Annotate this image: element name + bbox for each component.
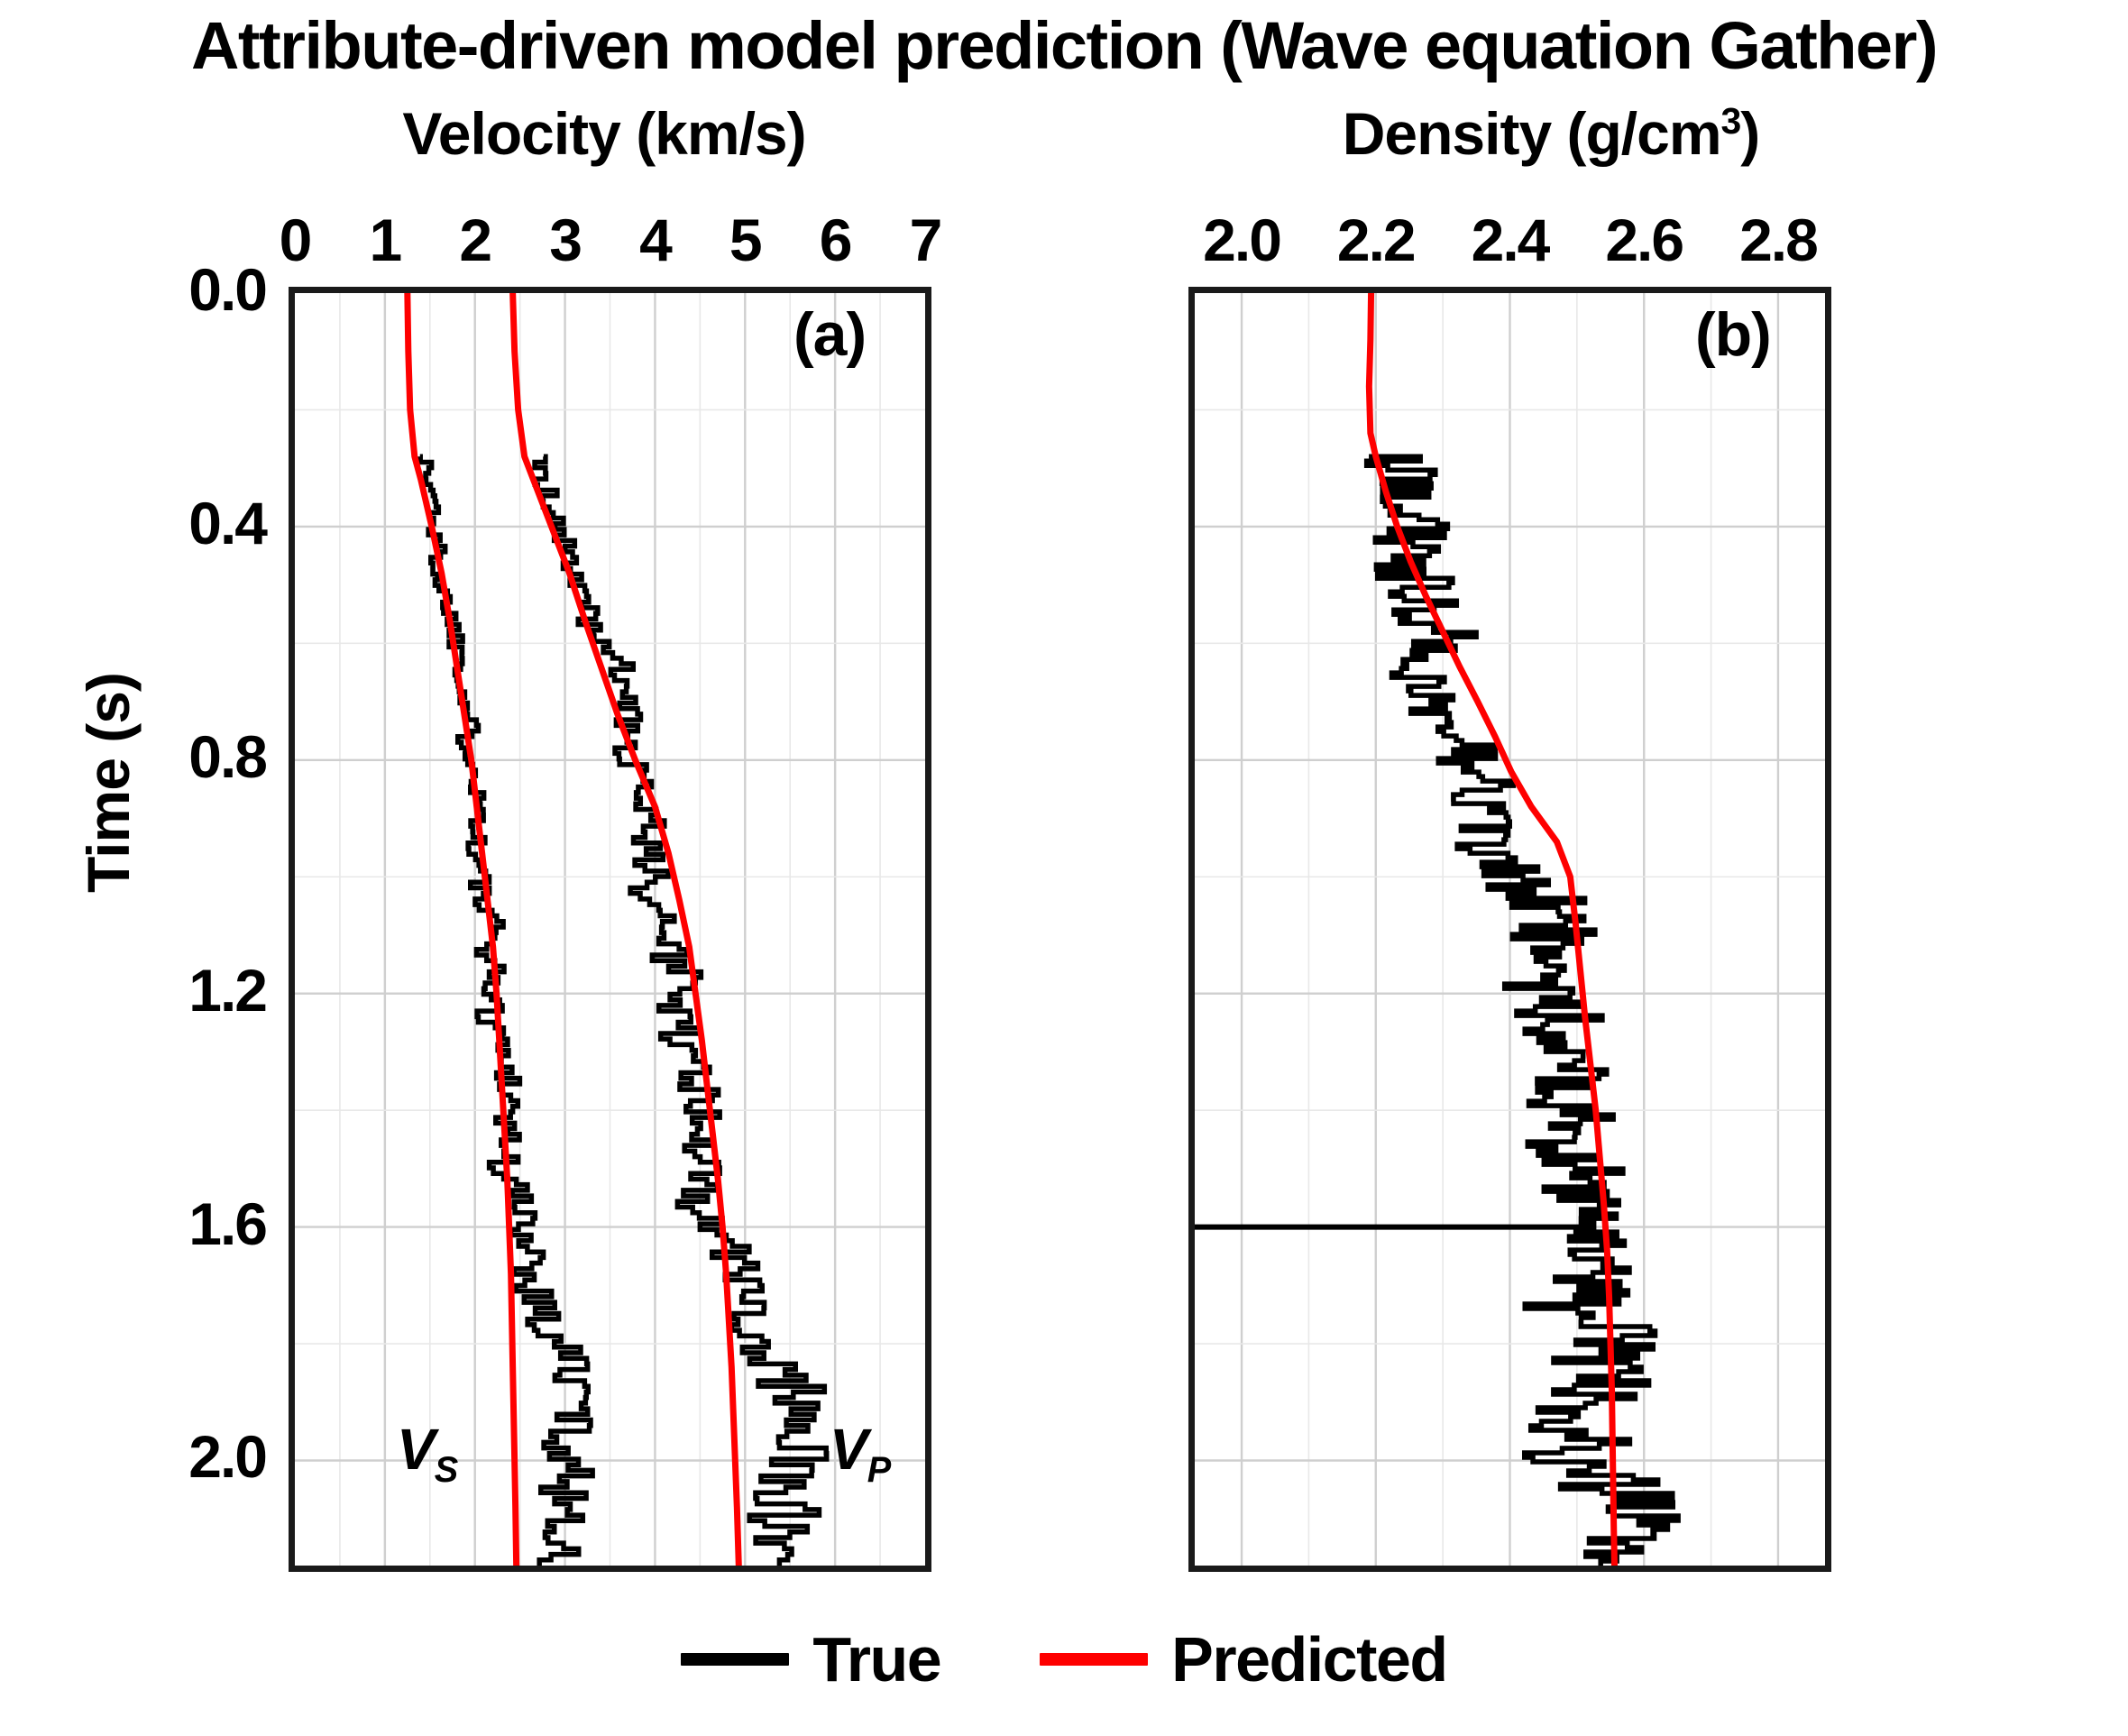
- vs-annotation-subscript: S: [435, 1450, 457, 1490]
- gridlines: [295, 293, 925, 1566]
- y-tick-label-group: 0.00.40.81.21.62.0: [41, 0, 266, 1736]
- legend-label-predicted: Predicted: [1171, 1623, 1447, 1695]
- legend-item-predicted[interactable]: Predicted: [1040, 1623, 1447, 1695]
- panel-b-svg: [1195, 293, 1825, 1566]
- panel-a-x-tick-label-2: 2: [459, 206, 491, 274]
- panel-a-x-tick-label-3: 3: [549, 206, 581, 274]
- vp-annotation-base: V: [830, 1417, 867, 1482]
- y-tick-label-0.0: 0.0: [41, 255, 266, 324]
- panel-b-axis-title-prefix: Density (g/cm3): [1343, 100, 1760, 167]
- figure-root: Attribute-driven model prediction (Wave …: [0, 0, 2128, 1736]
- panel-a-x-tick-label-5: 5: [729, 206, 761, 274]
- legend-swatch-predicted-icon: [1040, 1653, 1148, 1666]
- panel-a-x-tick-label-4: 4: [639, 206, 671, 274]
- panel-b-x-tick-label-2.4: 2.4: [1472, 206, 1549, 274]
- panel-a-x-tick-label-7: 7: [910, 206, 941, 274]
- panel-a-x-tick-label-1: 1: [369, 206, 400, 274]
- panel-a-x-tick-label-6: 6: [820, 206, 851, 274]
- panel-b-x-tick-label-2.8: 2.8: [1739, 206, 1817, 274]
- vs-true-curve: [420, 456, 592, 1566]
- figure-legend: TruePredicted: [0, 1623, 2128, 1695]
- legend-swatch-true-icon: [681, 1653, 789, 1666]
- y-tick-label-0.4: 0.4: [41, 489, 266, 557]
- figure-title: Attribute-driven model prediction (Wave …: [0, 7, 2128, 84]
- panel-a-letter: (a): [793, 299, 866, 370]
- panel-b-x-tick-label-2.6: 2.6: [1605, 206, 1683, 274]
- panel-b-x-tick-label-2.0: 2.0: [1203, 206, 1280, 274]
- vp-predicted-curve: [513, 293, 739, 1566]
- panel-a-x-tick-label-0: 0: [280, 206, 311, 274]
- panel-b-plot-area: [1188, 287, 1831, 1572]
- y-tick-label-1.2: 1.2: [41, 956, 266, 1024]
- panel-b-axis-title: Density (g/cm3): [1055, 99, 2047, 168]
- panel-a-plot-area: [289, 287, 931, 1572]
- panel-a-axis-title-text: Velocity (km/s): [402, 100, 805, 167]
- panel-a-svg: [295, 293, 925, 1566]
- legend-label-true: True: [812, 1623, 940, 1695]
- panel-b-letter: (b): [1695, 299, 1771, 370]
- vs-annotation-base: V: [397, 1417, 435, 1482]
- vp-annotation-subscript: P: [867, 1450, 890, 1490]
- vs-curve-annotation: VS: [397, 1416, 457, 1483]
- gridlines: [1195, 293, 1825, 1566]
- vp-curve-annotation: VP: [830, 1416, 890, 1483]
- density-true-curve: [1367, 456, 1678, 1566]
- panel-b-x-tick-label-2.2: 2.2: [1337, 206, 1415, 274]
- y-tick-label-1.6: 1.6: [41, 1189, 266, 1258]
- legend-item-true[interactable]: True: [681, 1623, 940, 1695]
- vp-true-curve: [535, 456, 827, 1566]
- y-tick-label-0.8: 0.8: [41, 722, 266, 791]
- y-tick-label-2.0: 2.0: [41, 1422, 266, 1491]
